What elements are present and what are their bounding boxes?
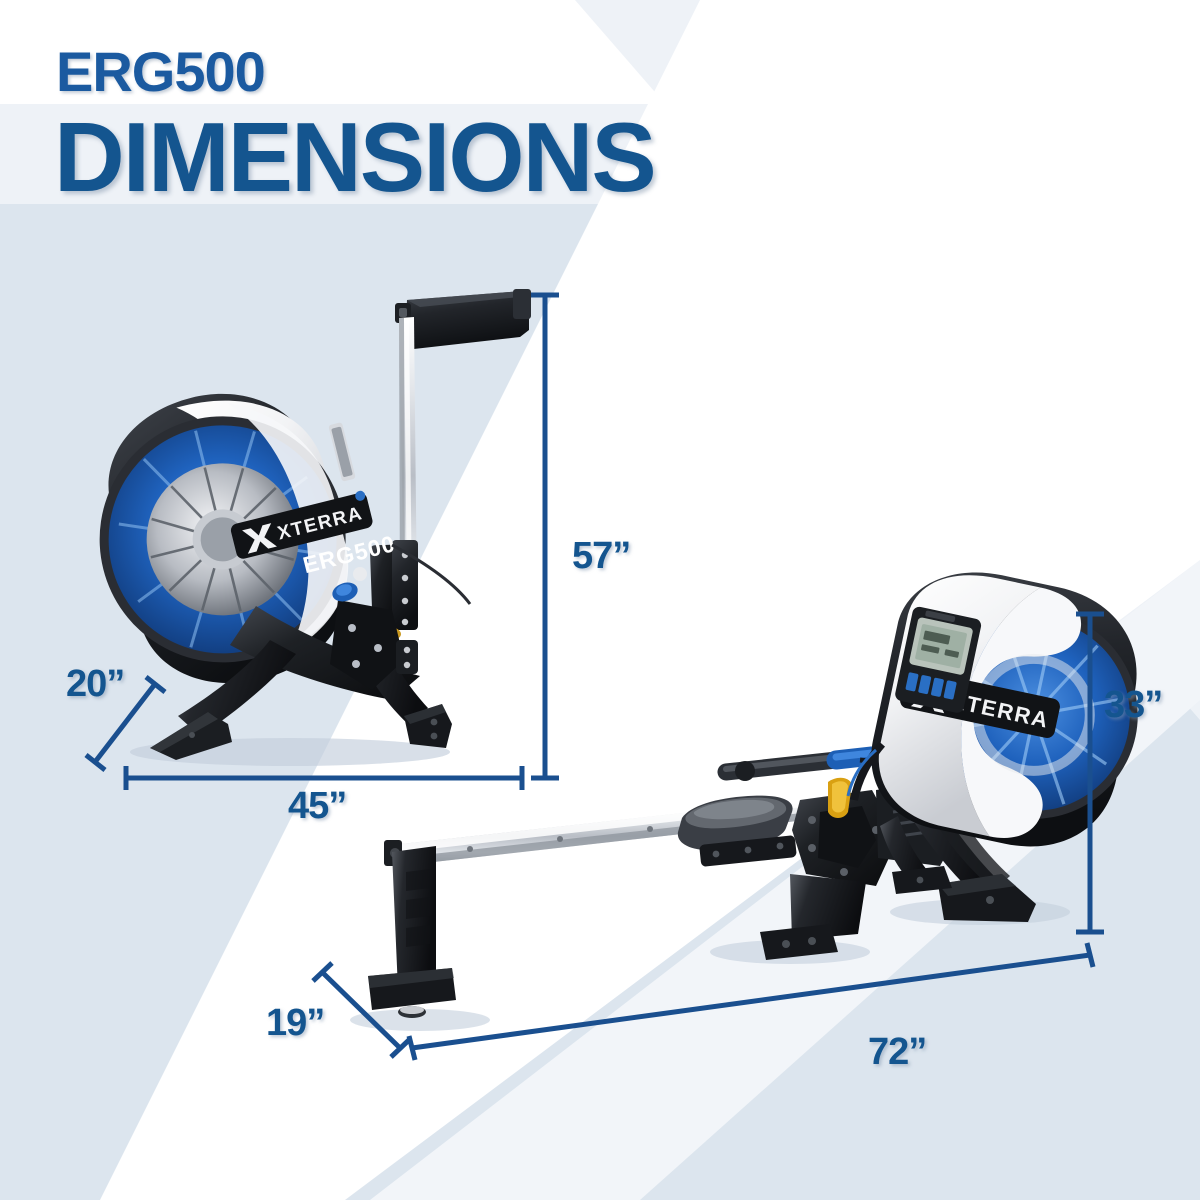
dimension-lines [0,0,1200,1200]
dimension-label-height-unfolded: 33” [1104,684,1162,727]
dimension-label-length-unfolded: 72” [868,1031,926,1074]
dimensions-infographic: ERG500 DIMENSIONS [0,0,1200,1200]
dimension-label-height-folded: 57” [572,535,630,578]
dimension-label-depth-unfolded: 19” [266,1002,324,1045]
dimension-line-33 [1076,614,1104,932]
dimension-label-width-folded: 45” [288,785,346,828]
dimension-line-19 [313,963,410,1057]
dimension-label-depth-folded: 20” [66,663,124,706]
dimension-line-57 [531,295,559,778]
dimension-line-72 [409,943,1093,1060]
